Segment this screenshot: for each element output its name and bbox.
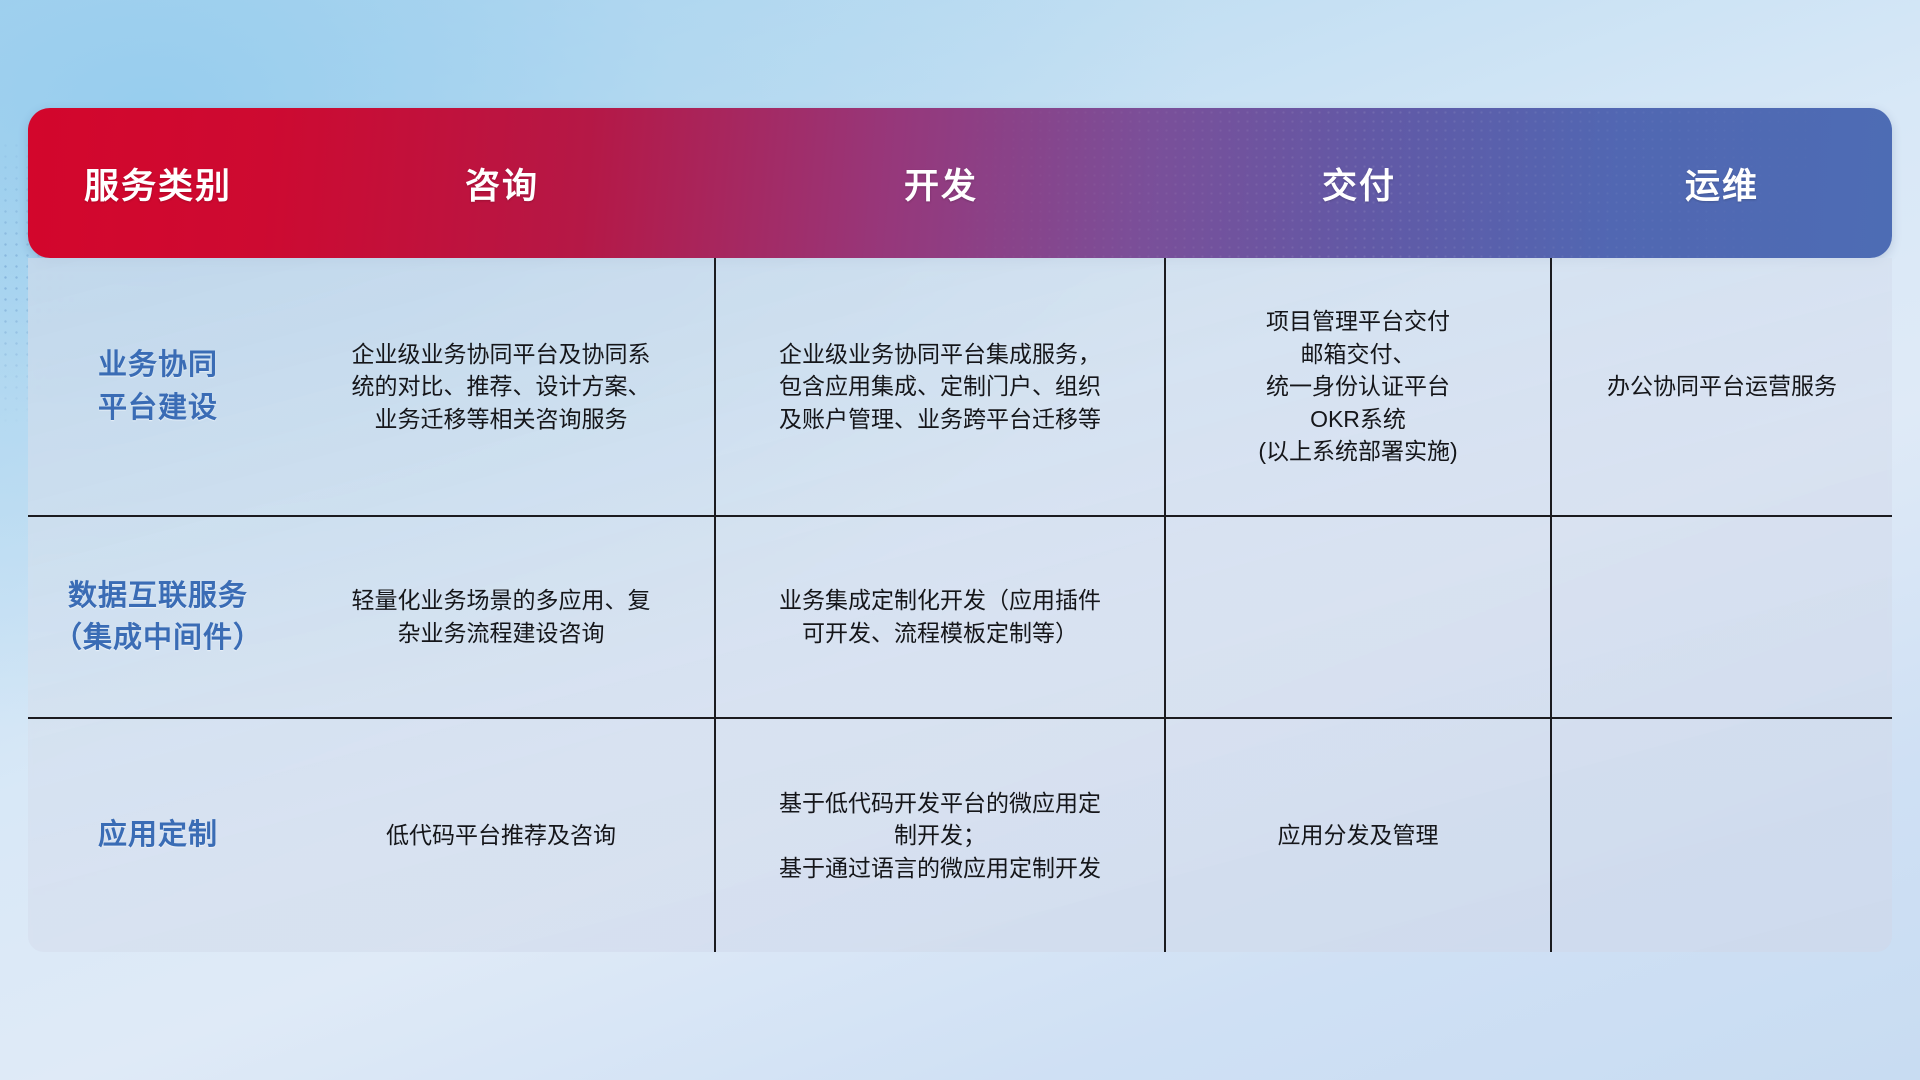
- cell-operations-row3: [1552, 719, 1892, 952]
- table-body: 业务协同 平台建设 企业级业务协同平台及协同系 统的对比、推荐、设计方案、 业务…: [28, 258, 1892, 952]
- table-header-row: 服务类别 咨询 开发 交付 运维: [28, 108, 1892, 258]
- cell-development-row2: 业务集成定制化开发（应用插件 可开发、流程模板定制等）: [716, 517, 1166, 717]
- slide-canvas: 服务类别 咨询 开发 交付 运维 业务协同 平台建设 企业级业务协同平台及协同系…: [0, 0, 1920, 1080]
- table-row: 应用定制 低代码平台推荐及咨询 基于低代码开发平台的微应用定 制开发； 基于通过…: [28, 719, 1892, 952]
- cell-development-row1: 企业级业务协同平台集成服务， 包含应用集成、定制门户、组织 及账户管理、业务跨平…: [716, 258, 1166, 515]
- header-cell-delivery: 交付: [1166, 108, 1552, 258]
- cell-delivery-row1: 项目管理平台交付 邮箱交付、 统一身份认证平台 OKR系统 (以上系统部署实施): [1166, 258, 1552, 515]
- cell-consulting-row2: 轻量化业务场景的多应用、复 杂业务流程建设咨询: [288, 517, 716, 717]
- cell-consulting-row1: 企业级业务协同平台及协同系 统的对比、推荐、设计方案、 业务迁移等相关咨询服务: [288, 258, 716, 515]
- cell-development-row3: 基于低代码开发平台的微应用定 制开发； 基于通过语言的微应用定制开发: [716, 719, 1166, 952]
- cell-delivery-row3: 应用分发及管理: [1166, 719, 1552, 952]
- table-row: 数据互联服务 （集成中间件） 轻量化业务场景的多应用、复 杂业务流程建设咨询 业…: [28, 517, 1892, 719]
- header-cell-consulting: 咨询: [288, 108, 716, 258]
- cell-delivery-row2: [1166, 517, 1552, 717]
- service-category-table: 服务类别 咨询 开发 交付 运维 业务协同 平台建设 企业级业务协同平台及协同系…: [28, 108, 1892, 952]
- header-cell-development: 开发: [716, 108, 1166, 258]
- cell-consulting-row3: 低代码平台推荐及咨询: [288, 719, 716, 952]
- cell-operations-row1: 办公协同平台运营服务: [1552, 258, 1892, 515]
- header-cell-service-category: 服务类别: [28, 108, 288, 258]
- header-cell-operations: 运维: [1552, 108, 1892, 258]
- row-label-business-collaboration: 业务协同 平台建设: [28, 258, 288, 515]
- row-label-app-customization: 应用定制: [28, 719, 288, 952]
- table-row: 业务协同 平台建设 企业级业务协同平台及协同系 统的对比、推荐、设计方案、 业务…: [28, 258, 1892, 517]
- cell-operations-row2: [1552, 517, 1892, 717]
- row-label-data-interconnect: 数据互联服务 （集成中间件）: [28, 517, 288, 717]
